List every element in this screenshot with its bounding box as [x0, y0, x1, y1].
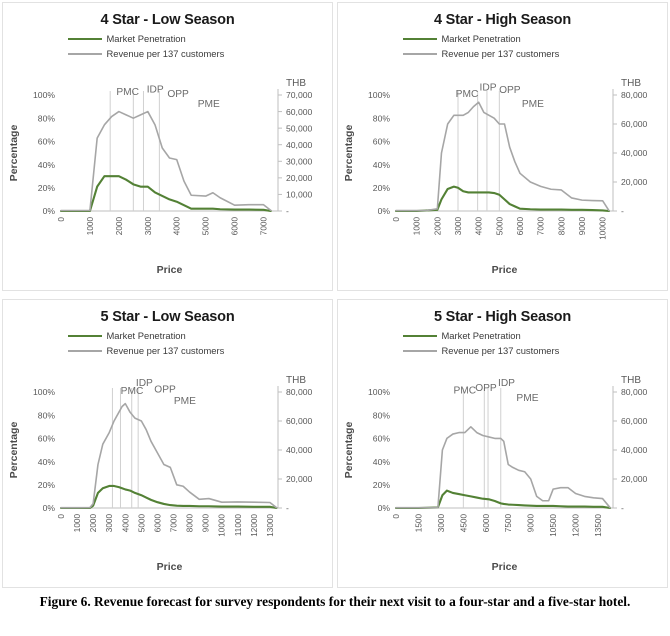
- x-axis-title: Price: [492, 561, 518, 573]
- y2-axis-tick-label: 40,000: [286, 445, 313, 455]
- y-axis-tick-label: 60%: [373, 137, 391, 147]
- y-axis-title: Percentage: [8, 125, 20, 182]
- marker-label-opp: OPP: [167, 89, 189, 100]
- y2-axis-title: THB: [621, 78, 641, 89]
- y2-axis-tick-label: 60,000: [286, 107, 313, 117]
- legend-label-revenue: Revenue per 137 customers: [442, 48, 560, 59]
- x-axis-tick-label: 1000: [73, 514, 82, 533]
- x-axis-tick-label: 4500: [459, 514, 468, 533]
- y2-axis-tick-label: -: [286, 206, 289, 216]
- y2-axis-tick-label: 20,000: [621, 177, 648, 187]
- chart-title: 5 Star - High Season: [338, 309, 667, 325]
- x-axis-tick-label: 7000: [537, 217, 546, 236]
- y-axis-tick-label: 100%: [33, 90, 55, 100]
- y-axis-title: Percentage: [343, 125, 355, 182]
- x-axis-tick-label: 13500: [594, 514, 603, 537]
- x-axis-tick-label: 0: [57, 217, 66, 222]
- x-axis-tick-label: 0: [392, 217, 401, 222]
- y2-axis-tick-label: -: [286, 503, 289, 513]
- y-axis-tick-label: 40%: [373, 160, 391, 170]
- y-axis-tick-label: 100%: [33, 387, 55, 397]
- x-axis-tick-label: 6000: [482, 514, 491, 533]
- marker-label-pme: PME: [174, 396, 196, 407]
- legend-label-market-penetration: Market Penetration: [442, 330, 521, 341]
- x-axis-tick-label: 5000: [137, 514, 146, 533]
- x-axis-tick-label: 7000: [170, 514, 179, 533]
- x-axis-tick-label: 13000: [266, 514, 275, 537]
- chart-legend: Market Penetration Revenue per 137 custo…: [403, 328, 603, 358]
- legend-label-market-penetration: Market Penetration: [107, 330, 186, 341]
- y-axis-tick-label: 0%: [378, 206, 391, 216]
- x-axis-tick-label: 10000: [599, 217, 608, 240]
- x-axis-tick-label: 9000: [527, 514, 536, 533]
- series-line-revenue: [61, 404, 276, 508]
- x-axis-tick-label: 7000: [260, 217, 269, 236]
- chart-panel-four-star-high-season[interactable]: 4 Star - High Season Market Penetration …: [337, 2, 668, 291]
- y-axis-tick-label: 20%: [373, 183, 391, 193]
- series-line-revenue: [396, 102, 609, 210]
- chart-title: 4 Star - High Season: [338, 12, 667, 28]
- legend-swatch-green-icon: [68, 335, 102, 337]
- y-axis-tick-label: 80%: [38, 113, 56, 123]
- x-axis-tick-label: 12000: [572, 514, 581, 537]
- x-axis-tick-label: 6000: [153, 514, 162, 533]
- legend-item-revenue[interactable]: Revenue per 137 customers: [68, 343, 268, 358]
- y2-axis-tick-label: 80,000: [621, 387, 648, 397]
- series-line-market-penetration: [396, 491, 610, 508]
- y2-axis-tick-label: 60,000: [621, 416, 648, 426]
- plot-area: 0%20%40%60%80%100%-20,00040,00060,00080,…: [3, 370, 332, 575]
- legend-item-market-penetration[interactable]: Market Penetration: [68, 328, 268, 343]
- y-axis-title: Percentage: [8, 422, 20, 479]
- y2-axis-tick-label: 40,000: [621, 445, 648, 455]
- y2-axis-tick-label: 40,000: [286, 140, 313, 150]
- x-axis-title: Price: [492, 264, 518, 276]
- marker-label-pme: PME: [516, 393, 538, 404]
- plot-area: 0%20%40%60%80%100%-20,00040,00060,00080,…: [338, 370, 667, 575]
- plot-area: 0%20%40%60%80%100%-10,00020,00030,00040,…: [3, 73, 332, 278]
- y2-axis-tick-label: 20,000: [286, 173, 313, 183]
- y-axis-tick-label: 60%: [38, 137, 56, 147]
- legend-item-revenue[interactable]: Revenue per 137 customers: [403, 343, 603, 358]
- y2-axis-tick-label: 60,000: [286, 416, 313, 426]
- chart-legend: Market Penetration Revenue per 137 custo…: [403, 31, 603, 61]
- marker-label-idp: IDP: [480, 83, 497, 94]
- y-axis-tick-label: 60%: [38, 434, 56, 444]
- marker-label-idp: IDP: [147, 84, 164, 95]
- y-axis-tick-label: 0%: [43, 206, 56, 216]
- y-axis-title: Percentage: [343, 422, 355, 479]
- y2-axis-tick-label: 60,000: [621, 119, 648, 129]
- y-axis-tick-label: 80%: [373, 410, 391, 420]
- chart-grid: 4 Star - Low Season Market Penetration R…: [0, 0, 670, 590]
- y2-axis-tick-label: 50,000: [286, 123, 313, 133]
- y-axis-tick-label: 40%: [373, 457, 391, 467]
- x-axis-tick-label: 7500: [504, 514, 513, 533]
- x-axis-tick-label: 2000: [115, 217, 124, 236]
- x-axis-tick-label: 1000: [413, 217, 422, 236]
- legend-swatch-grey-icon: [68, 53, 102, 55]
- y2-axis-tick-label: -: [621, 503, 624, 513]
- y-axis-tick-label: 60%: [373, 434, 391, 444]
- marker-label-pmc: PMC: [454, 386, 477, 397]
- x-axis-tick-label: 12000: [250, 514, 259, 537]
- marker-label-opp: OPP: [154, 384, 176, 395]
- legend-item-revenue[interactable]: Revenue per 137 customers: [68, 46, 268, 61]
- y-axis-tick-label: 20%: [373, 480, 391, 490]
- y2-axis-title: THB: [286, 78, 306, 89]
- x-axis-tick-label: 9000: [578, 217, 587, 236]
- y2-axis-tick-label: 80,000: [621, 90, 648, 100]
- x-axis-tick-label: 4000: [173, 217, 182, 236]
- x-axis-tick-label: 9000: [202, 514, 211, 533]
- legend-item-revenue[interactable]: Revenue per 137 customers: [403, 46, 603, 61]
- y-axis-tick-label: 20%: [38, 183, 56, 193]
- y2-axis-tick-label: 40,000: [621, 148, 648, 158]
- legend-item-market-penetration[interactable]: Market Penetration: [403, 328, 603, 343]
- marker-label-opp: OPP: [475, 383, 497, 394]
- y2-axis-title: THB: [621, 375, 641, 386]
- y-axis-tick-label: 0%: [378, 503, 391, 513]
- plot-area: 0%20%40%60%80%100%-20,00040,00060,00080,…: [338, 73, 667, 278]
- figure-caption: Figure 6. Revenue forecast for survey re…: [0, 590, 670, 636]
- y-axis-tick-label: 100%: [368, 387, 390, 397]
- y-axis-tick-label: 40%: [38, 160, 56, 170]
- chart-legend: Market Penetration Revenue per 137 custo…: [68, 328, 268, 358]
- marker-label-idp: IDP: [498, 378, 515, 389]
- legend-swatch-green-icon: [68, 38, 102, 40]
- legend-label-market-penetration: Market Penetration: [442, 33, 521, 44]
- x-axis-tick-label: 8000: [557, 217, 566, 236]
- x-axis-tick-label: 0: [392, 514, 401, 519]
- y2-axis-tick-label: 20,000: [286, 474, 313, 484]
- y2-axis-tick-label: 80,000: [286, 387, 313, 397]
- x-axis-tick-label: 6000: [231, 217, 240, 236]
- y-axis-tick-label: 40%: [38, 457, 56, 467]
- legend-label-revenue: Revenue per 137 customers: [107, 48, 225, 59]
- x-axis-tick-label: 4000: [475, 217, 484, 236]
- legend-label-revenue: Revenue per 137 customers: [442, 345, 560, 356]
- chart-legend: Market Penetration Revenue per 137 custo…: [68, 31, 268, 61]
- legend-swatch-grey-icon: [403, 53, 437, 55]
- x-axis-tick-label: 2000: [89, 514, 98, 533]
- x-axis-tick-label: 5000: [495, 217, 504, 236]
- legend-label-revenue: Revenue per 137 customers: [107, 345, 225, 356]
- marker-label-pmc: PMC: [456, 89, 479, 100]
- x-axis-tick-label: 2000: [433, 217, 442, 236]
- chart-panel-five-star-low-season[interactable]: 5 Star - Low Season Market Penetration R…: [2, 299, 333, 588]
- legend-swatch-grey-icon: [68, 350, 102, 352]
- y-axis-tick-label: 80%: [38, 410, 56, 420]
- x-axis-tick-label: 5000: [202, 217, 211, 236]
- y2-axis-tick-label: 70,000: [286, 90, 313, 100]
- x-axis-tick-label: 3000: [454, 217, 463, 236]
- legend-label-market-penetration: Market Penetration: [107, 33, 186, 44]
- x-axis-tick-label: 10000: [218, 514, 227, 537]
- x-axis-tick-label: 11000: [234, 514, 243, 537]
- x-axis-tick-label: 0: [57, 514, 66, 519]
- chart-title: 5 Star - Low Season: [3, 309, 332, 325]
- series-line-revenue: [396, 427, 610, 508]
- x-axis-title: Price: [157, 561, 183, 573]
- y2-axis-tick-label: -: [621, 206, 624, 216]
- chart-title: 4 Star - Low Season: [3, 12, 332, 28]
- series-line-revenue: [61, 112, 271, 211]
- y2-axis-tick-label: 20,000: [621, 474, 648, 484]
- y2-axis-tick-label: 10,000: [286, 190, 313, 200]
- marker-label-pmc: PMC: [116, 87, 139, 98]
- x-axis-tick-label: 8000: [186, 514, 195, 533]
- figure-container: 4 Star - Low Season Market Penetration R…: [0, 0, 670, 636]
- marker-label-pme: PME: [522, 99, 544, 110]
- marker-label-pme: PME: [198, 99, 220, 110]
- x-axis-tick-label: 4000: [121, 514, 130, 533]
- x-axis-tick-label: 10500: [549, 514, 558, 537]
- y2-axis-tick-label: 30,000: [286, 156, 313, 166]
- x-axis-tick-label: 1000: [86, 217, 95, 236]
- legend-item-market-penetration[interactable]: Market Penetration: [403, 31, 603, 46]
- y-axis-tick-label: 20%: [38, 480, 56, 490]
- legend-swatch-green-icon: [403, 38, 437, 40]
- legend-swatch-grey-icon: [403, 350, 437, 352]
- y-axis-tick-label: 0%: [43, 503, 56, 513]
- x-axis-title: Price: [157, 264, 183, 276]
- x-axis-tick-label: 1500: [414, 514, 423, 533]
- x-axis-tick-label: 6000: [516, 217, 525, 236]
- legend-item-market-penetration[interactable]: Market Penetration: [68, 31, 268, 46]
- y2-axis-title: THB: [286, 375, 306, 386]
- marker-label-opp: OPP: [499, 85, 521, 96]
- x-axis-tick-label: 3000: [105, 514, 114, 533]
- y-axis-tick-label: 100%: [368, 90, 390, 100]
- chart-panel-five-star-high-season[interactable]: 5 Star - High Season Market Penetration …: [337, 299, 668, 588]
- legend-swatch-green-icon: [403, 335, 437, 337]
- chart-panel-four-star-low-season[interactable]: 4 Star - Low Season Market Penetration R…: [2, 2, 333, 291]
- y-axis-tick-label: 80%: [373, 113, 391, 123]
- marker-label-idp: IDP: [136, 378, 153, 389]
- x-axis-tick-label: 3000: [437, 514, 446, 533]
- x-axis-tick-label: 3000: [144, 217, 153, 236]
